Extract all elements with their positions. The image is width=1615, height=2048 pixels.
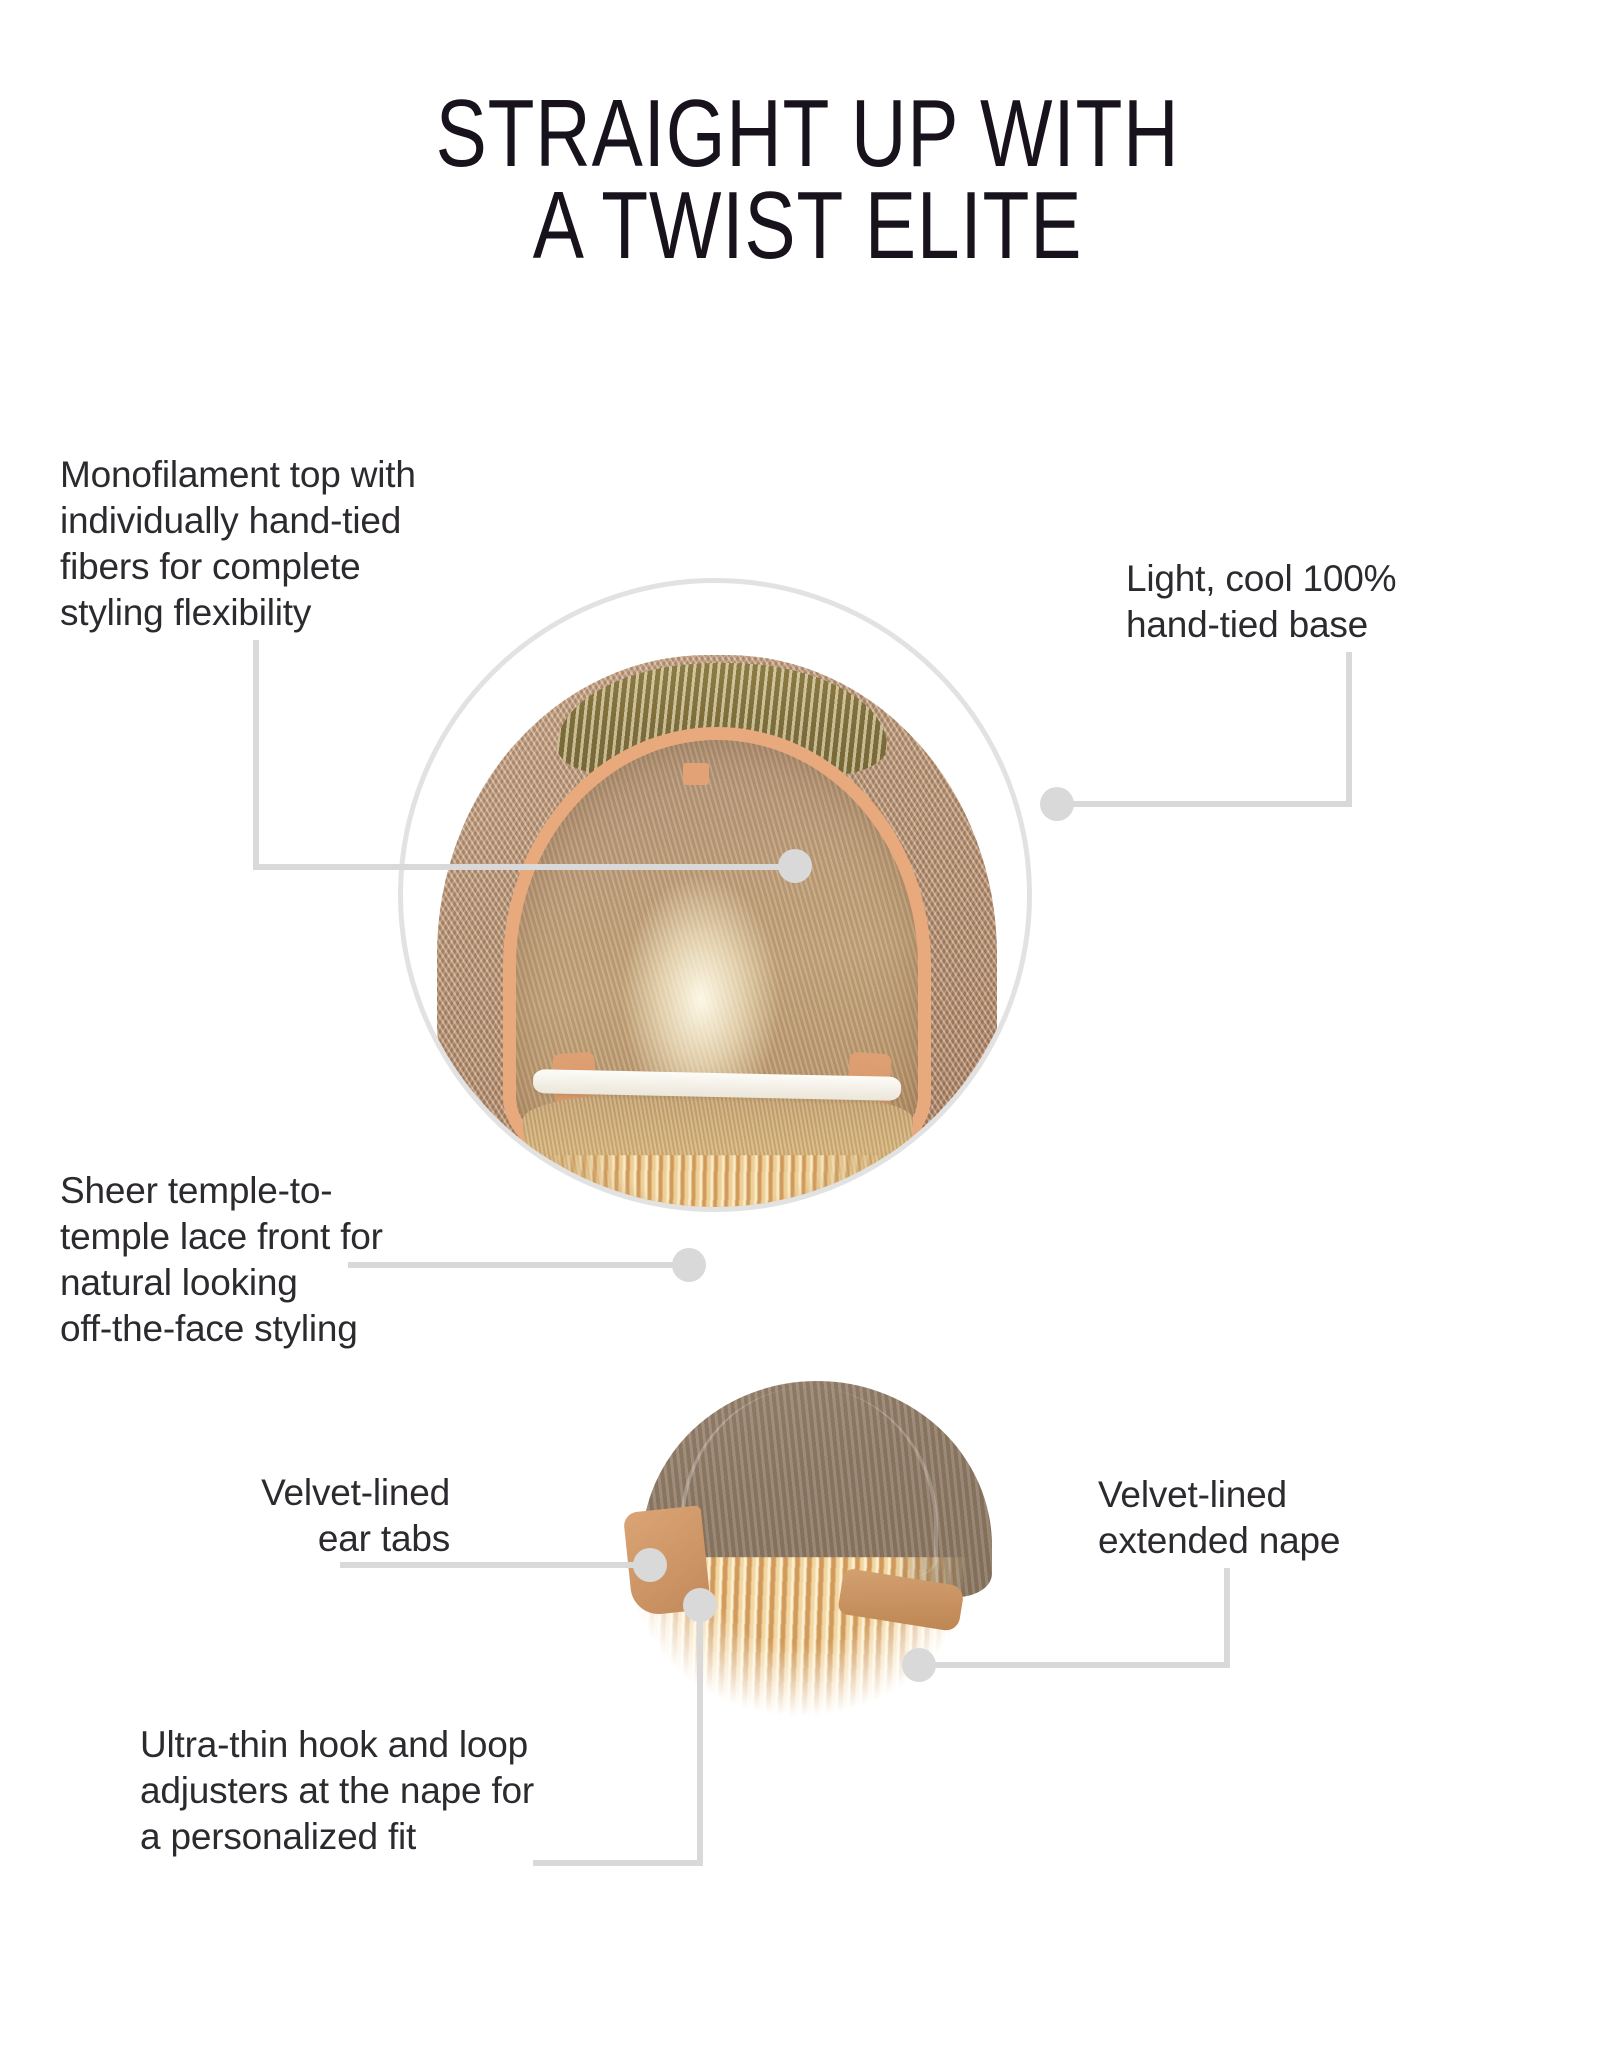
crown-tab [683,763,709,785]
callout-lace-front: Sheer temple-to- temple lace front for n… [60,1168,480,1352]
cap-nape-photo [572,1318,1032,1778]
callout-ear-tabs: Velvet-lined ear tabs [110,1470,450,1562]
marker-monofilament-top [778,849,812,883]
marker-hand-tied-base [1040,787,1074,821]
leader-ear-tabs-horizontal [340,1562,650,1568]
title-line-2: A TWIST ELITE [162,180,1454,272]
wig-cap-nape-illustration [606,1381,1026,1741]
page-title: STRAIGHT UP WITH A TWIST ELITE [162,88,1454,272]
leader-lace-front-horizontal [348,1262,688,1268]
leader-extended-nape-horizontal [926,1662,1230,1668]
leader-monofilament-vertical [253,640,259,870]
cap-inside-photo [398,578,1032,1212]
callout-monofilament-top: Monofilament top with individually hand-… [60,452,460,636]
front-hair-fringe [491,1155,943,1212]
leader-extended-nape-vertical [1224,1568,1230,1668]
wig-cap-inside-illustration [437,655,997,1212]
leader-hand-tied-horizontal [1070,801,1352,807]
marker-lace-front [672,1248,706,1282]
leader-hook-loop-horizontal [533,1860,703,1866]
callout-hand-tied-base: Light, cool 100% hand-tied base [1126,556,1486,648]
marker-extended-nape [902,1648,936,1682]
leader-hook-loop-vertical [697,1610,703,1866]
callout-hook-and-loop: Ultra-thin hook and loop adjusters at th… [140,1722,660,1860]
callout-extended-nape: Velvet-lined extended nape [1098,1472,1478,1564]
product-feature-diagram: STRAIGHT UP WITH A TWIST ELITE Monofilam… [0,0,1615,2048]
marker-hook-and-loop [683,1588,717,1622]
marker-ear-tabs [633,1548,667,1582]
leader-hand-tied-vertical [1346,652,1352,807]
title-line-1: STRAIGHT UP WITH [162,88,1454,180]
leader-monofilament-horizontal [253,864,795,870]
